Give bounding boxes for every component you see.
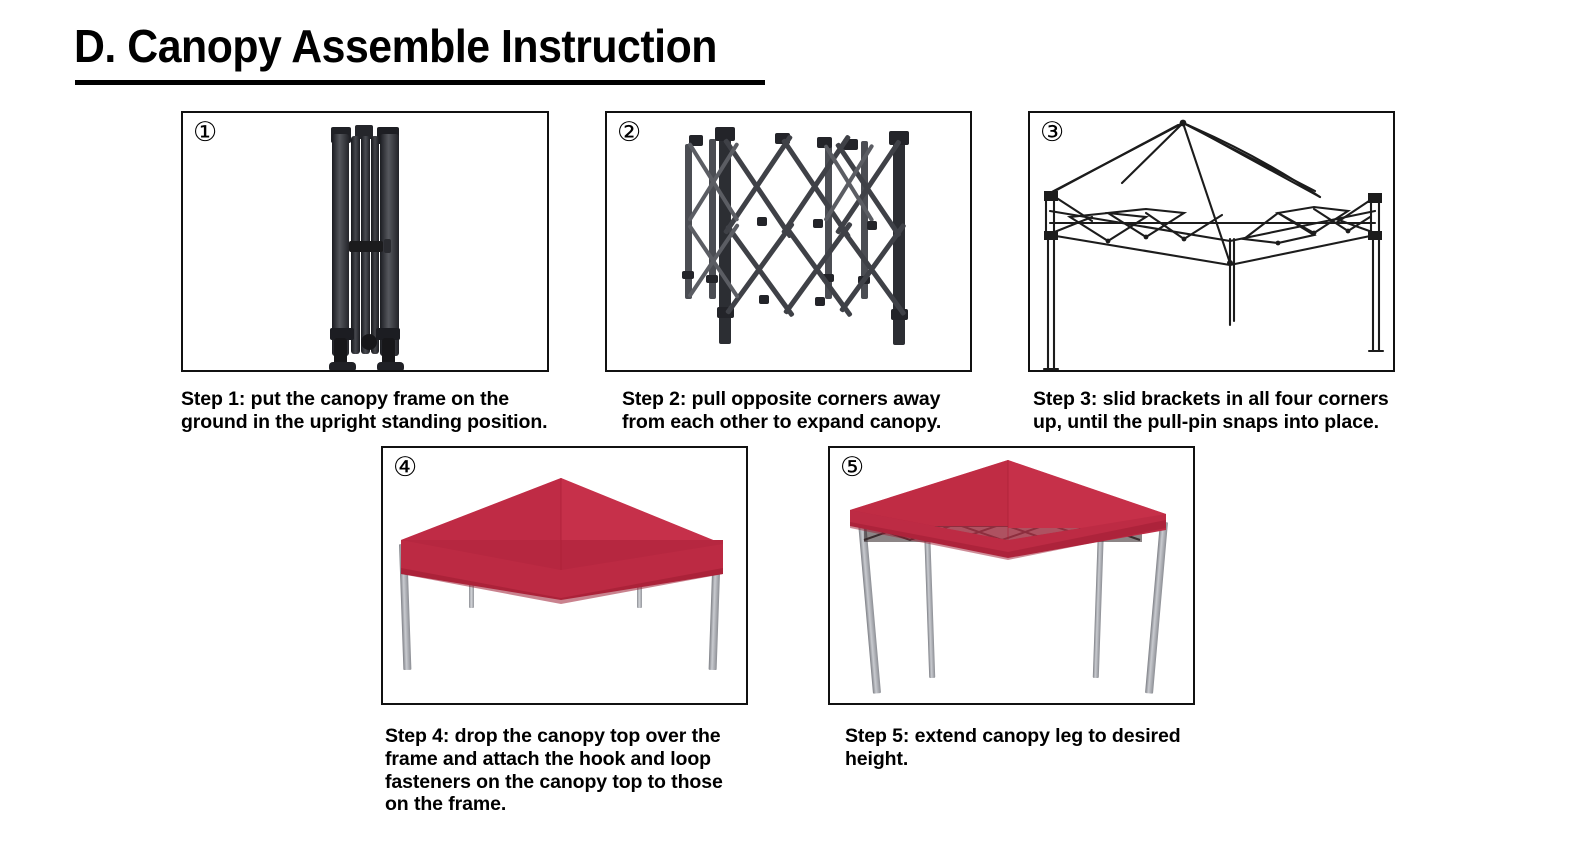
- step-1-number-badge: ①: [193, 119, 217, 146]
- step-1-image-panel: ①: [181, 111, 549, 372]
- step-2-image-panel: ②: [605, 111, 972, 372]
- step-5-number-badge: ⑤: [840, 454, 864, 481]
- folded-canopy-frame-photo: [329, 124, 407, 369]
- step-1-caption: Step 1: put the canopy frame on the grou…: [181, 388, 566, 434]
- step-5-caption: Step 5: extend canopy leg to desired hei…: [845, 725, 1195, 771]
- step-2-number-badge: ②: [617, 119, 641, 146]
- page-title: D. Canopy Assemble Instruction: [74, 22, 717, 70]
- partially-expanded-frame-photo: [665, 119, 925, 364]
- step-3-number-badge: ③: [1040, 119, 1064, 146]
- step-3-image-panel: ③: [1028, 111, 1395, 372]
- fully-expanded-frame-lineart: [1030, 113, 1395, 372]
- canopy-legs-extended-photo: [830, 448, 1195, 705]
- title-underline-rule: [75, 80, 765, 85]
- step-4-number-badge: ④: [393, 454, 417, 481]
- canopy-top-installed-photo: [383, 448, 748, 705]
- step-4-image-panel: ④: [381, 446, 748, 705]
- step-2-caption: Step 2: pull opposite corners away from …: [622, 388, 972, 434]
- step-3-caption: Step 3: slid brackets in all four corner…: [1033, 388, 1408, 434]
- step-4-caption: Step 4: drop the canopy top over the fra…: [385, 725, 737, 816]
- step-5-image-panel: ⑤: [828, 446, 1195, 705]
